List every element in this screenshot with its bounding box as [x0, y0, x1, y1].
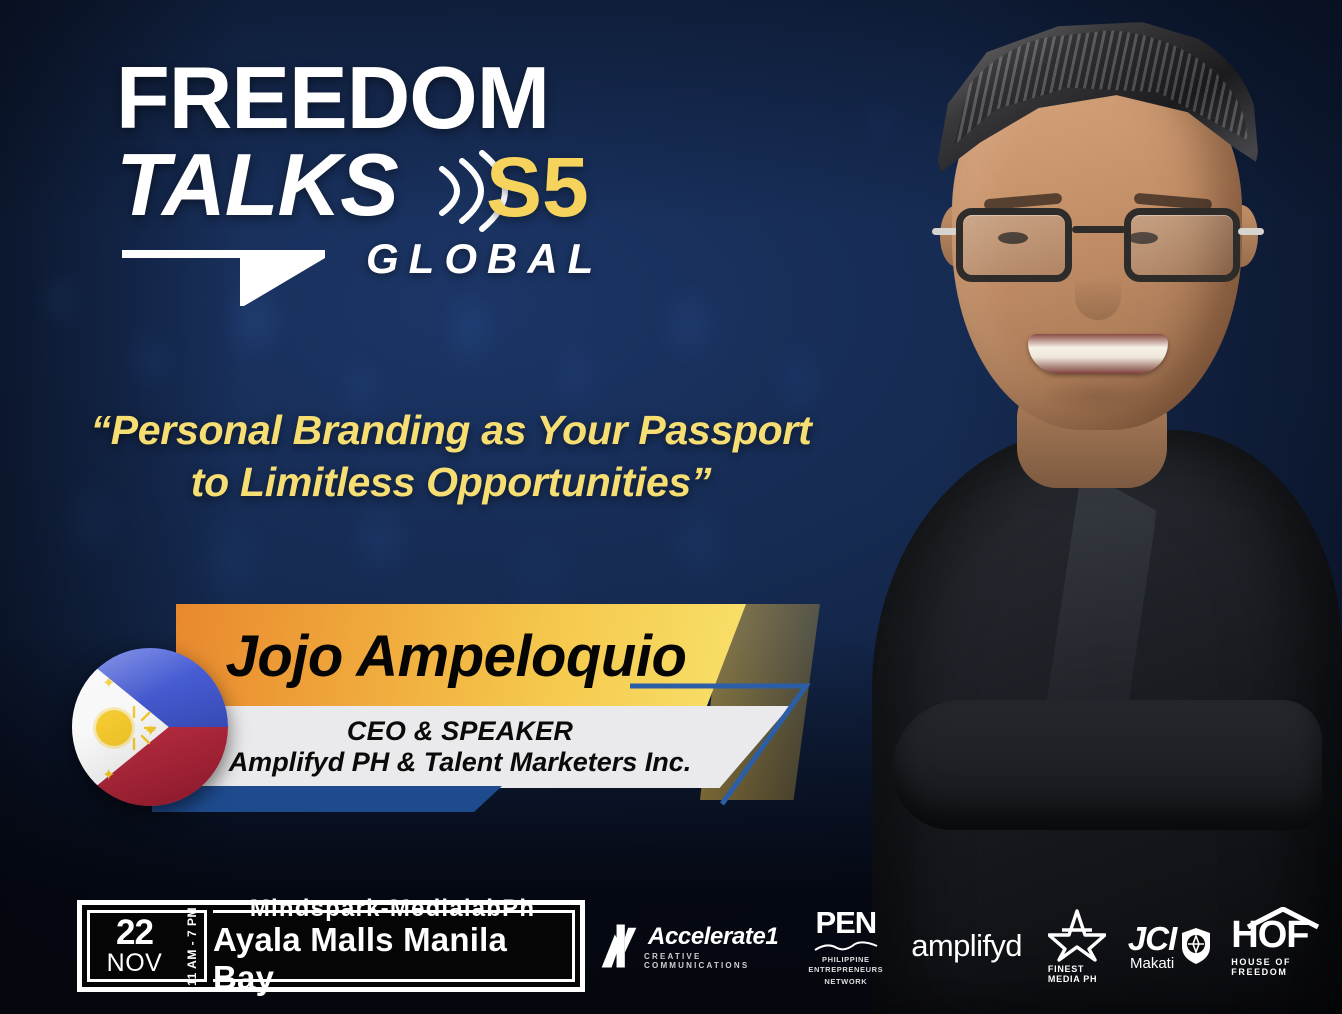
sponsor-house-of-freedom: HOF HOUSE OF FREEDOM [1231, 916, 1308, 977]
banner-chevron-outline-icon [626, 672, 816, 812]
speaker-nose [1075, 250, 1121, 320]
logo-talks-text: TALKS [116, 141, 398, 229]
jci-text: JCI Makati [1128, 920, 1176, 972]
accelerate1-text: Accelerate1 CREATIVE COMMUNICATIONS [644, 923, 782, 970]
sponsor-pen: PEN PHILIPPINE ENTREPRENEURS NETWORK [808, 905, 883, 987]
accelerate1-name: Accelerate1 [648, 923, 778, 951]
glasses-bridge [1072, 226, 1126, 233]
house-roof-icon [1245, 907, 1321, 929]
pen-name: PEN [815, 905, 876, 941]
logo-freedom-text: FREEDOM [116, 58, 736, 139]
freedom-talks-logo: FREEDOM TALKS S5 GLOBAL [116, 58, 736, 237]
jci-chapter: Makati [1130, 955, 1174, 972]
event-time: 11 AM - 7 PM [185, 907, 199, 986]
logo-second-row: TALKS S5 GLOBAL [116, 141, 736, 237]
finest-media-name: FINEST MEDIA PH [1048, 964, 1106, 984]
speaker-chin [1018, 368, 1178, 422]
event-time-strip: 11 AM - 7 PM [179, 910, 207, 982]
speaker-company: Amplifyd PH & Talent Marketers Inc. [229, 747, 692, 778]
quote-line-1: “Personal Branding as Your Passport [56, 404, 846, 456]
event-poster: FREEDOM TALKS S5 GLOBAL “Personal Brandi… [0, 0, 1342, 1014]
accelerate1-tagline: CREATIVE COMMUNICATIONS [644, 952, 782, 970]
event-day: 22 [116, 915, 153, 950]
glasses-lens-right [1124, 208, 1240, 282]
star-icon [1048, 908, 1106, 962]
jci-name: JCI [1128, 920, 1176, 958]
quote-line-2: to Limitless Opportunities” [56, 456, 846, 508]
hof-tagline: HOUSE OF FREEDOM [1231, 957, 1308, 977]
speaker-arms [892, 700, 1322, 830]
pen-signature-icon [811, 941, 881, 953]
event-month: NOV [107, 950, 163, 976]
glasses-temple-right [1238, 228, 1264, 235]
jci-shield-icon [1181, 927, 1211, 965]
speech-bubble-tail-icon [120, 244, 470, 312]
sponsor-finest-media: FINEST MEDIA PH [1048, 908, 1106, 984]
venue-location: Ayala Malls Manila Bay [213, 921, 572, 997]
logo-season-text: S5 [486, 145, 589, 229]
philippines-flag-badge: ✦ ✦ ✦ [72, 648, 228, 806]
speaker-role: CEO & SPEAKER [347, 716, 573, 747]
speaker-portrait [832, 0, 1342, 1014]
event-venue: Mindspark-MedialabPh Ayala Malls Manila … [213, 910, 575, 982]
event-date: 22 NOV [87, 910, 179, 982]
flag-badge-gloss [72, 648, 228, 806]
sponsor-amplifyd: amplifyd [911, 928, 1022, 964]
venue-name: Mindspark-MedialabPh [250, 895, 535, 923]
talk-title-quote: “Personal Branding as Your Passport to L… [56, 404, 846, 509]
glasses-temple-left [932, 228, 958, 235]
accelerate1-a-mark-icon [600, 918, 638, 974]
sponsor-jci: JCI Makati [1128, 920, 1211, 972]
pen-tagline-1: PHILIPPINE ENTREPRENEURS [808, 955, 883, 975]
sponsor-accelerate1: Accelerate1 CREATIVE COMMUNICATIONS [600, 918, 782, 974]
event-details-box: 22 NOV 11 AM - 7 PM Mindspark-MedialabPh… [77, 900, 585, 992]
sponsor-logos: Accelerate1 CREATIVE COMMUNICATIONS PEN … [600, 898, 1300, 994]
glasses-lens-left [956, 208, 1072, 282]
pen-tagline-2: NETWORK [824, 977, 867, 987]
